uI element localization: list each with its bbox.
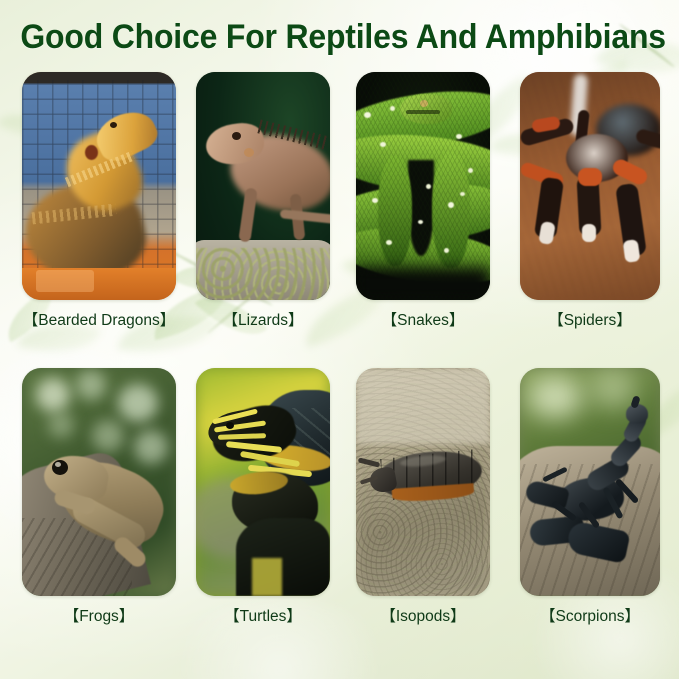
- caption-isopods: 【Isopods】: [380, 604, 465, 626]
- caption-snakes: 【Snakes】: [382, 308, 465, 330]
- caption-scorpions: 【Scorpions】: [540, 604, 640, 626]
- photo-lizard[interactable]: [196, 72, 330, 300]
- grid-cell-scorpions[interactable]: 【Scorpions】: [520, 368, 660, 596]
- photo-turtle[interactable]: [196, 368, 330, 596]
- photo-snake[interactable]: [356, 72, 490, 300]
- caption-frogs: 【Frogs】: [64, 604, 135, 626]
- caption-lizards: 【Lizards】: [223, 308, 304, 330]
- photo-spider[interactable]: [520, 72, 660, 300]
- photo-isopod[interactable]: [356, 368, 490, 596]
- grid-cell-turtles[interactable]: 【Turtles】: [196, 368, 330, 596]
- grid-row: 【Bearded Dragons】: [0, 72, 679, 368]
- caption-bearded-dragons: 【Bearded Dragons】: [23, 308, 176, 330]
- species-grid: 【Bearded Dragons】: [0, 72, 679, 664]
- caption-spiders: 【Spiders】: [548, 308, 632, 330]
- grid-row: 【Frogs】: [0, 368, 679, 664]
- caption-turtles: 【Turtles】: [224, 604, 302, 626]
- grid-cell-isopods[interactable]: 【Isopods】: [356, 368, 490, 596]
- photo-scorpion[interactable]: [520, 368, 660, 596]
- grid-cell-frogs[interactable]: 【Frogs】: [22, 368, 176, 596]
- photo-frog[interactable]: [22, 368, 176, 596]
- grid-cell-snakes[interactable]: 【Snakes】: [356, 72, 490, 300]
- page-title: Good Choice For Reptiles And Amphibians: [20, 18, 658, 57]
- photo-bearded-dragon[interactable]: [22, 72, 176, 300]
- grid-cell-lizards[interactable]: 【Lizards】: [196, 72, 330, 300]
- grid-cell-bearded-dragons[interactable]: 【Bearded Dragons】: [22, 72, 176, 300]
- poster-root: Good Choice For Reptiles And Amphibians: [0, 0, 679, 679]
- grid-cell-spiders[interactable]: 【Spiders】: [520, 72, 660, 300]
